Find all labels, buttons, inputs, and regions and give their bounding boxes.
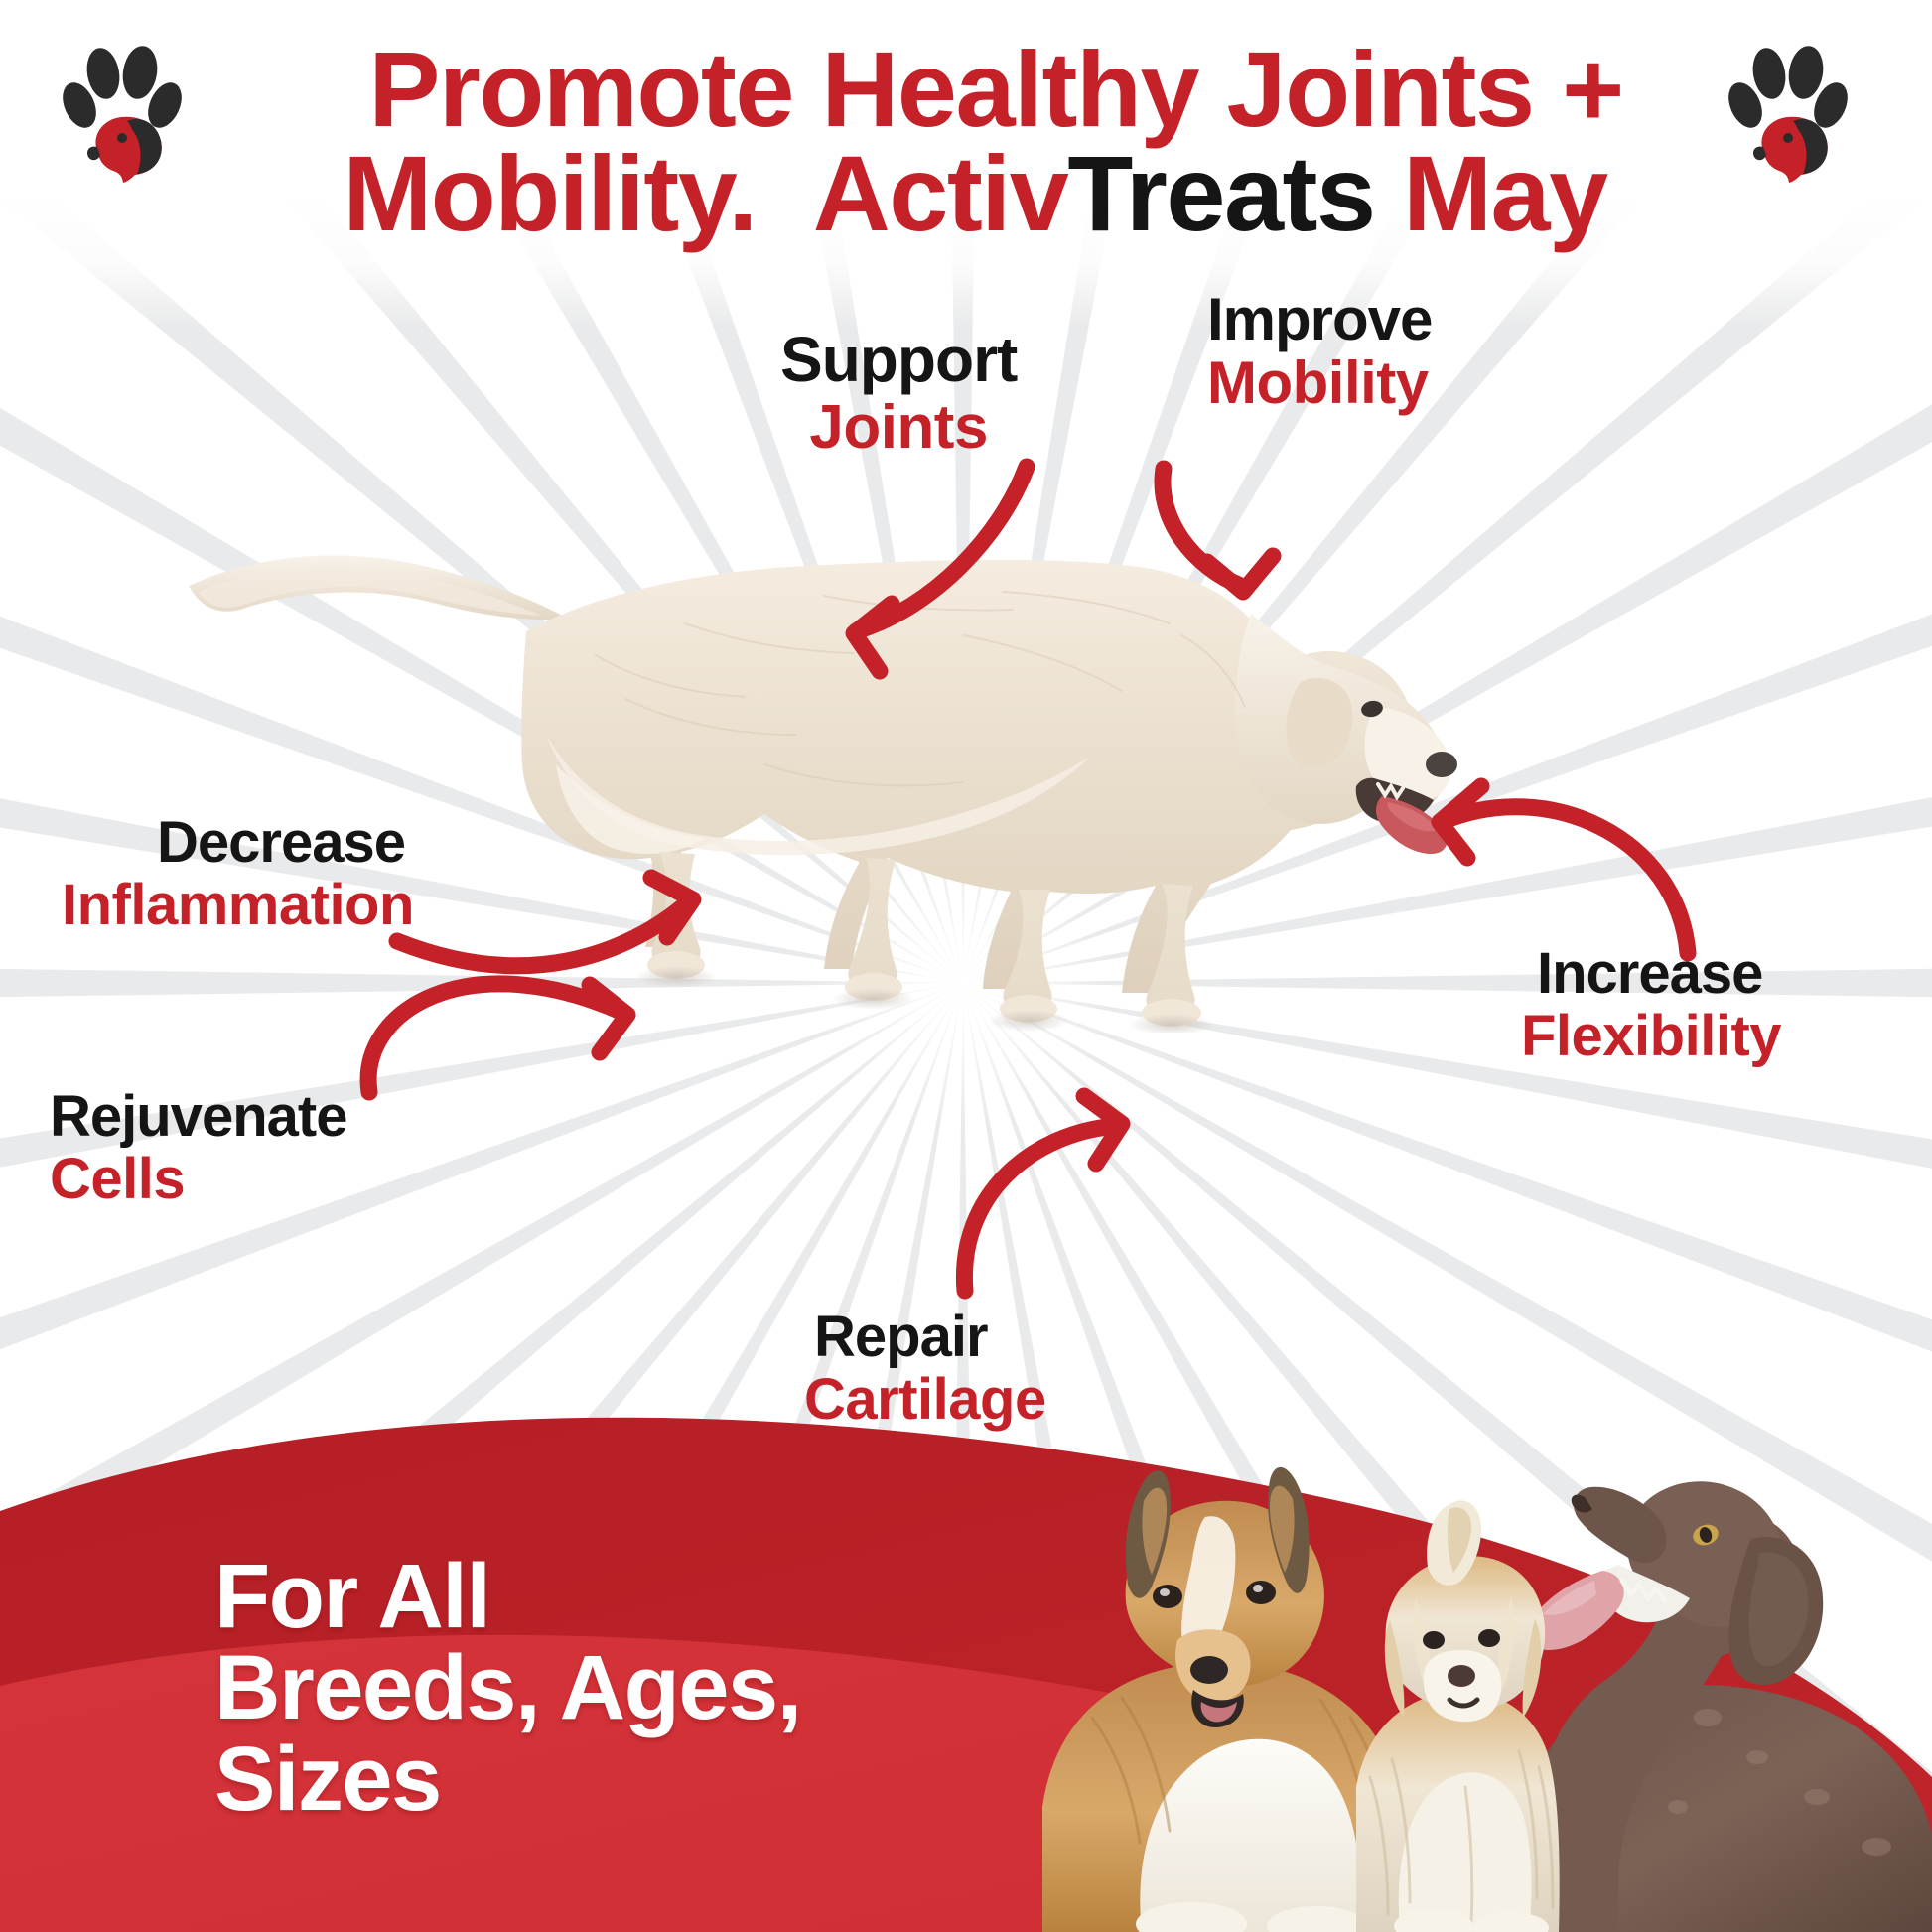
banner-line-3: Sizes <box>214 1733 801 1825</box>
callout-decrease-inflammation-bottom: Inflammation <box>62 876 414 936</box>
german-shorthaired-pointer-photo <box>1519 1481 1932 1932</box>
callout-improve-mobility-top: Improve <box>1207 290 1432 349</box>
callout-rejuvenate-cells-top: Rejuvenate <box>50 1088 346 1146</box>
dog-paw-with-dog-head-icon <box>1727 44 1857 183</box>
headline-line2-mobility: Mobility. <box>343 133 756 253</box>
callout-decrease-inflammation: Decrease Inflammation <box>62 814 414 936</box>
dog-paw-with-dog-head-icon <box>62 44 191 183</box>
callout-rejuvenate-cells: Rejuvenate Cells <box>50 1088 346 1210</box>
callout-repair-cartilage: Repair Cartilage <box>804 1309 1046 1431</box>
page-title: Promote Healthy Joints + Mobility. Activ… <box>0 34 1932 248</box>
small-shaggy-terrier-photo <box>1356 1501 1560 1932</box>
callout-support-joints: Support Joints <box>780 328 1017 460</box>
callout-increase-flexibility-top: Increase <box>1521 945 1781 1003</box>
callout-support-joints-bottom: Joints <box>780 395 1017 460</box>
three-dogs-group-photo <box>1023 1390 1932 1932</box>
callout-improve-mobility-bottom: Mobility <box>1207 351 1432 414</box>
callout-decrease-inflammation-top: Decrease <box>62 814 414 872</box>
callout-increase-flexibility-bottom: Flexibility <box>1521 1007 1781 1067</box>
callout-rejuvenate-cells-bottom: Cells <box>50 1150 346 1210</box>
golden-retriever-walking-photo <box>129 437 1459 1033</box>
callout-increase-flexibility: Increase Flexibility <box>1521 945 1781 1067</box>
infographic-canvas: Promote Healthy Joints + Mobility. Activ… <box>0 0 1932 1932</box>
callout-repair-cartilage-bottom: Cartilage <box>804 1370 1046 1431</box>
banner-line-1: For All <box>214 1551 801 1642</box>
callout-repair-cartilage-top: Repair <box>804 1309 1046 1366</box>
headline-line1: Promote Healthy Joints + <box>368 29 1622 149</box>
brand-treats: Treats <box>1067 133 1374 253</box>
brand-activ: Activ <box>813 133 1068 253</box>
banner-line-2: Breeds, Ages, <box>214 1642 801 1733</box>
callout-improve-mobility: Improve Mobility <box>1207 290 1432 414</box>
headline-line2-may: May <box>1403 133 1607 253</box>
banner-headline: For All Breeds, Ages, Sizes <box>214 1551 801 1825</box>
callout-support-joints-top: Support <box>780 328 1017 391</box>
